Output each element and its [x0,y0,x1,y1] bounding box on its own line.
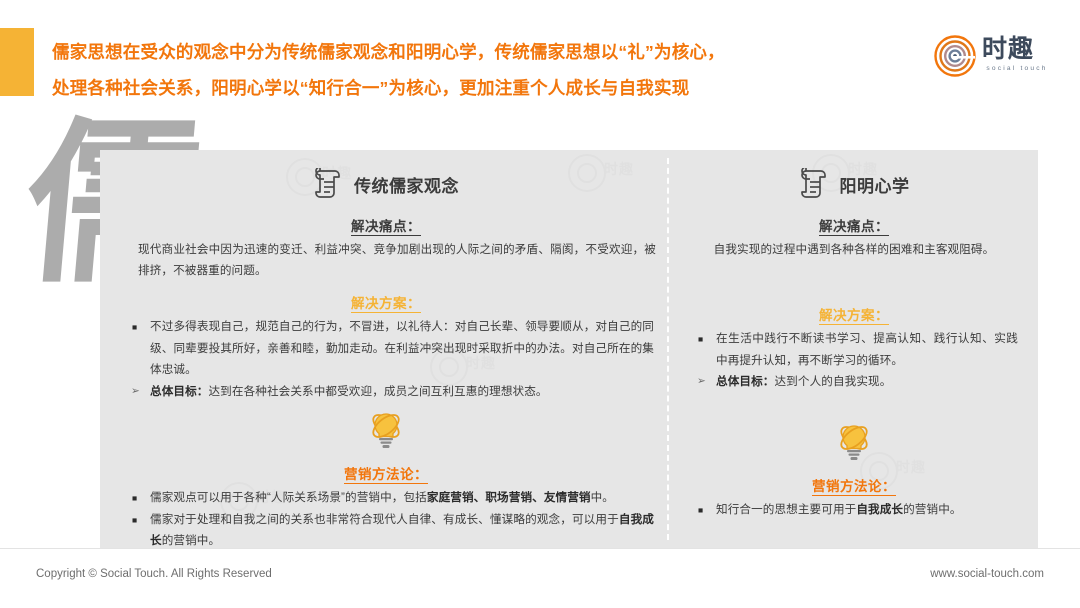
column-header: 传统儒家观念 [110,164,662,204]
logo-wordmark: 时趣 social touch [982,36,1052,72]
slide-footer: Copyright © Social Touch. All Rights Res… [0,548,1080,608]
content-panel: 时趣 时趣 时趣 时趣 时趣 时趣 传统儒家观念 解决痛点： 现代商业社会中因为… [100,150,1038,548]
page-title-line-1: 儒家思想在受众的观念中分为传统儒家观念和阳明心学，传统儒家思想以“礼”为核心， [52,34,932,70]
list-item: 在生活中践行不断读书学习、提高认知、践行认知、实践中再提升认知，再不断学习的循环… [698,328,1018,371]
lightbulb-wrap [110,412,662,452]
marketing-heading: 营销方法论： [110,463,662,483]
lightbulb-icon [368,412,404,450]
accent-bar [0,28,34,96]
scroll-icon [799,168,829,200]
pain-text: 自我实现的过程中遇到各种各样的困难和主客观阻碍。 [680,239,1028,260]
footer-copyright: Copyright © Social Touch. All Rights Res… [36,568,272,580]
marketing-list: 知行合一的思想主要可用于自我成长的营销中。 [680,499,1028,521]
solution-heading: 解决方案： [110,292,662,312]
column-yangming-mind-studies: 阳明心学 解决痛点： 自我实现的过程中遇到各种各样的困难和主客观阻碍。 解决方案… [680,150,1028,520]
logo-chinese-name: 时趣 [982,36,1052,63]
column-title: 传统儒家观念 [354,172,459,197]
solution-list: 在生活中践行不断读书学习、提高认知、践行认知、实践中再提升认知，再不断学习的循环… [680,328,1028,393]
brand-logo: 时趣 social touch [934,34,1052,84]
footer-website[interactable]: www.social-touch.com [930,568,1044,580]
column-divider [667,158,669,540]
logo-english-name: social touch [982,65,1052,72]
marketing-list: 儒家观点可以用于各种“人际关系场景”的营销中，包括家庭营销、职场营销、友情营销中… [110,487,662,552]
lightbulb-icon [836,424,872,462]
list-item: 儒家观点可以用于各种“人际关系场景”的营销中，包括家庭营销、职场营销、友情营销中… [132,487,654,509]
pain-text: 现代商业社会中因为迅速的变迁、利益冲突、竞争加剧出现的人际之间的矛盾、隔阂，不受… [110,239,662,281]
solution-list: 不过多得表现自己，规范自己的行为，不冒进，以礼待人：对自己长辈、领导要顺从，对自… [110,316,662,402]
page-title: 儒家思想在受众的观念中分为传统儒家观念和阳明心学，传统儒家思想以“礼”为核心， … [52,34,932,106]
column-traditional-confucian: 传统儒家观念 解决痛点： 现代商业社会中因为迅速的变迁、利益冲突、竞争加剧出现的… [110,150,662,552]
goal-label: 总体目标： [150,385,208,398]
lightbulb-wrap [680,424,1028,464]
pain-heading: 解决痛点： [110,215,662,235]
spiral-logo-icon [934,35,976,77]
list-item: 总体目标：达到个人的自我实现。 [698,371,1018,393]
list-item: 知行合一的思想主要可用于自我成长的营销中。 [698,499,1018,521]
scroll-icon [313,168,343,200]
column-title: 阳明心学 [840,172,910,197]
column-header: 阳明心学 [680,164,1028,204]
list-item: 儒家对于处理和自我之间的关系也非常符合现代人自律、有成长、懂谋略的观念，可以用于… [132,509,654,552]
solution-heading: 解决方案： [680,304,1028,324]
goal-label: 总体目标： [716,375,774,388]
marketing-heading: 营销方法论： [680,475,1028,495]
list-item: 总体目标：达到在各种社会关系中都受欢迎，成员之间互利互惠的理想状态。 [132,381,654,403]
pain-heading: 解决痛点： [680,215,1028,235]
list-item: 不过多得表现自己，规范自己的行为，不冒进，以礼待人：对自己长辈、领导要顺从，对自… [132,316,654,381]
